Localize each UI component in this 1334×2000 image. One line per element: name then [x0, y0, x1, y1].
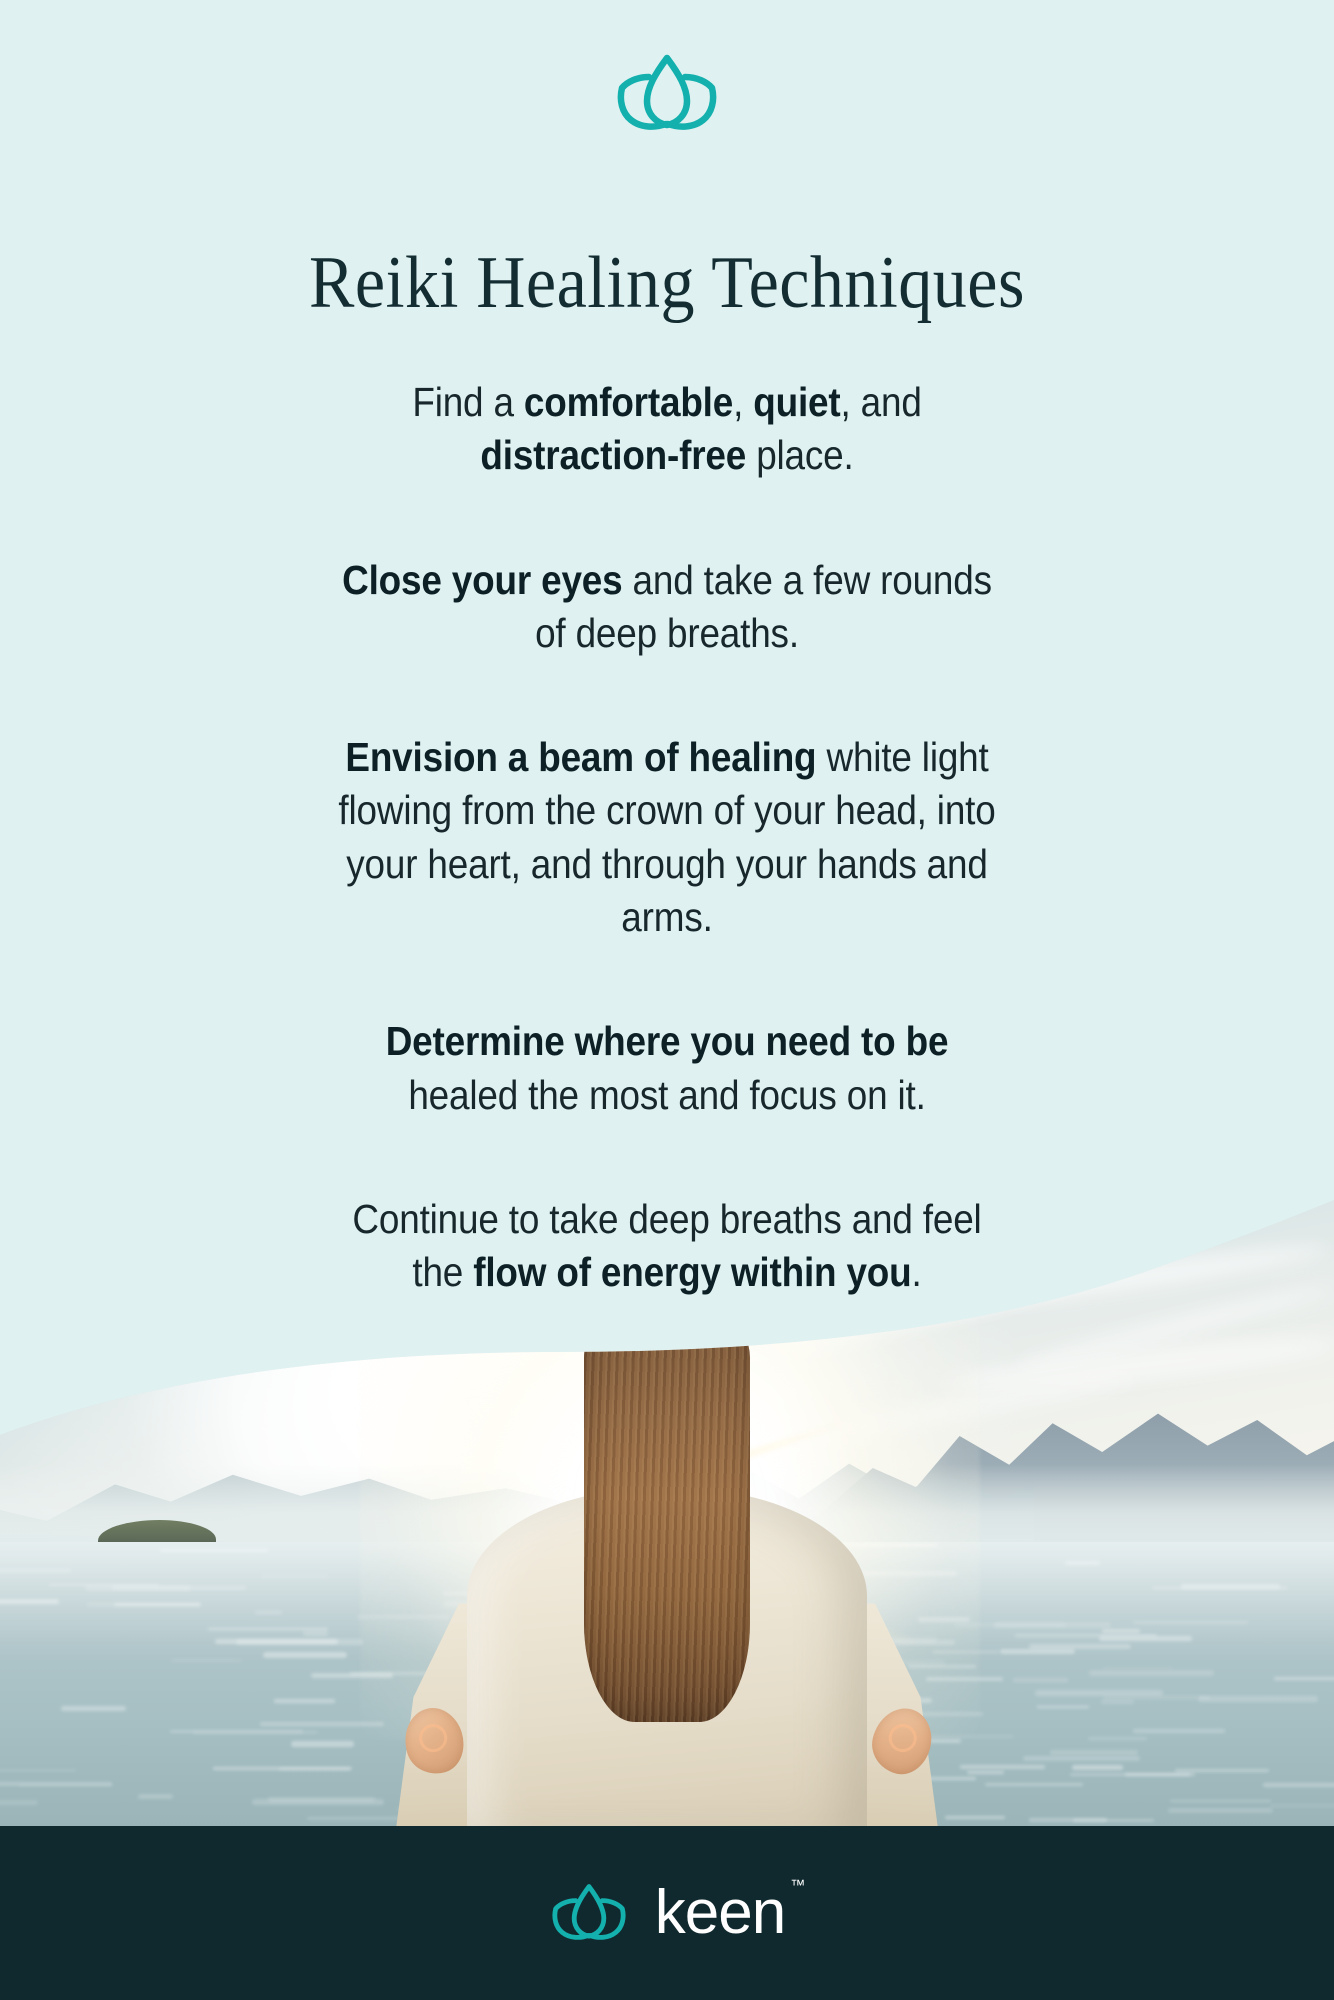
page-title: Reiki Healing Techniques — [53, 246, 1280, 320]
body-text: , — [733, 379, 753, 425]
trademark-symbol: ™ — [790, 1878, 805, 1893]
emphasis-text: Close your eyes — [342, 557, 622, 603]
header-logo — [0, 52, 1334, 130]
body-text: place. — [746, 432, 853, 478]
footer-wordmark: keen ™ — [655, 1882, 785, 1944]
emphasis-text: Determine where you need to be — [386, 1018, 949, 1064]
step-item: Continue to take deep breaths and feel t… — [334, 1193, 1000, 1300]
wordmark-text: keen — [655, 1878, 785, 1947]
poster-root: Reiki Healing Techniques Find a comforta… — [0, 0, 1334, 2000]
step-item: Determine where you need to be healed th… — [334, 1015, 1000, 1122]
lotus-icon — [549, 1881, 629, 1946]
emphasis-text: quiet — [753, 379, 840, 425]
body-text: Find a — [412, 379, 524, 425]
lotus-icon — [613, 52, 721, 130]
emphasis-text: comfortable — [524, 379, 733, 425]
hair — [584, 1292, 750, 1722]
step-item: Close your eyes and take a few rounds of… — [334, 554, 1000, 661]
step-item: Envision a beam of healing white light f… — [334, 731, 1000, 944]
body-text: healed the most and focus on it. — [408, 1072, 925, 1118]
footer-bar: keen ™ — [0, 1826, 1334, 2000]
body-text: . — [912, 1249, 922, 1295]
emphasis-text: Envision a beam of healing — [345, 734, 816, 780]
footer-logo[interactable]: keen ™ — [549, 1881, 785, 1946]
hair-strands — [584, 1292, 750, 1722]
emphasis-text: flow of energy within you — [473, 1249, 911, 1295]
step-item: Find a comfortable, quiet, and distracti… — [334, 376, 1000, 483]
body-text: , and — [840, 379, 921, 425]
emphasis-text: distraction-free — [480, 432, 746, 478]
